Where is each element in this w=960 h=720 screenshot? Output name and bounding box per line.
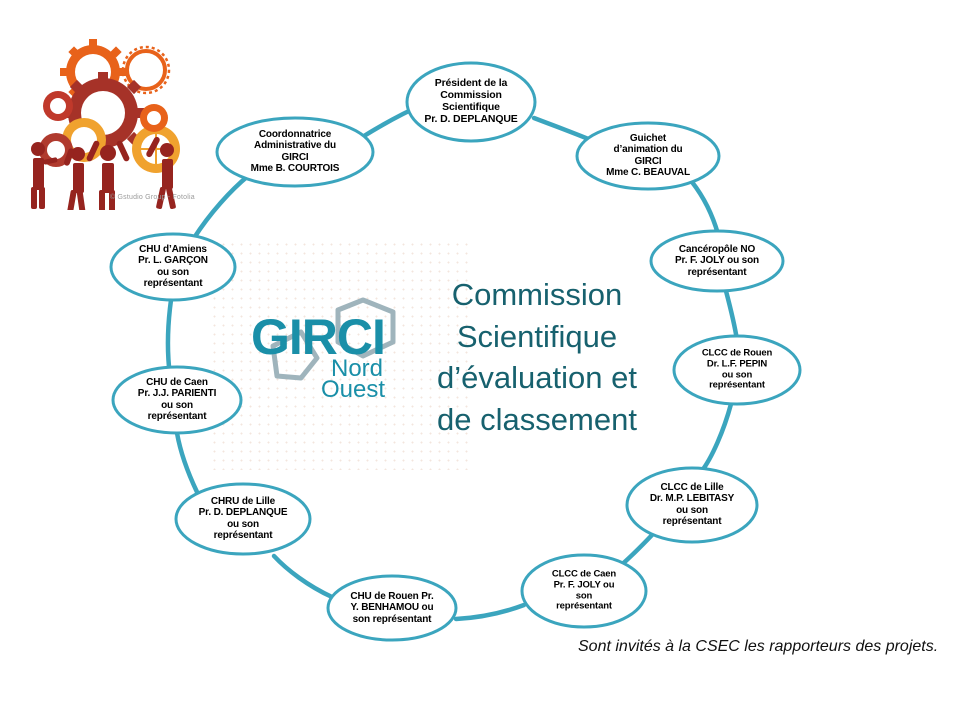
node-ellipse-chru-de-lille[interactable] <box>176 484 310 554</box>
node-ellipse-clcc-de-caen[interactable] <box>522 555 646 627</box>
footer-note: Sont invités à la CSEC les rapporteurs d… <box>578 638 938 656</box>
node-ellipse-chu-d-amiens[interactable] <box>111 234 235 300</box>
node-ellipse-guichet-animation-girci[interactable] <box>577 123 719 189</box>
node-ellipse-clcc-de-lille[interactable] <box>627 468 757 542</box>
node-ellipse-chu-de-caen[interactable] <box>113 367 241 433</box>
node-ellipse-chu-de-rouen[interactable] <box>328 576 456 640</box>
node-ellipse-coordonnatrice-administrative-girci[interactable] <box>217 118 373 186</box>
node-ellipse-president-commission-scientifique[interactable] <box>407 63 535 141</box>
node-ellipse-canceropole-no[interactable] <box>651 231 783 291</box>
node-ellipse-clcc-de-rouen[interactable] <box>674 336 800 404</box>
center-title: Commission Scientifique d’évaluation et … <box>412 274 662 440</box>
slide-canvas: © Gstudio Group - Fotolia Président de l… <box>0 0 960 720</box>
logo-sub-line2: Ouest <box>321 376 385 403</box>
girci-nord-ouest-logo: GIRCI Nord Ouest <box>243 296 408 406</box>
